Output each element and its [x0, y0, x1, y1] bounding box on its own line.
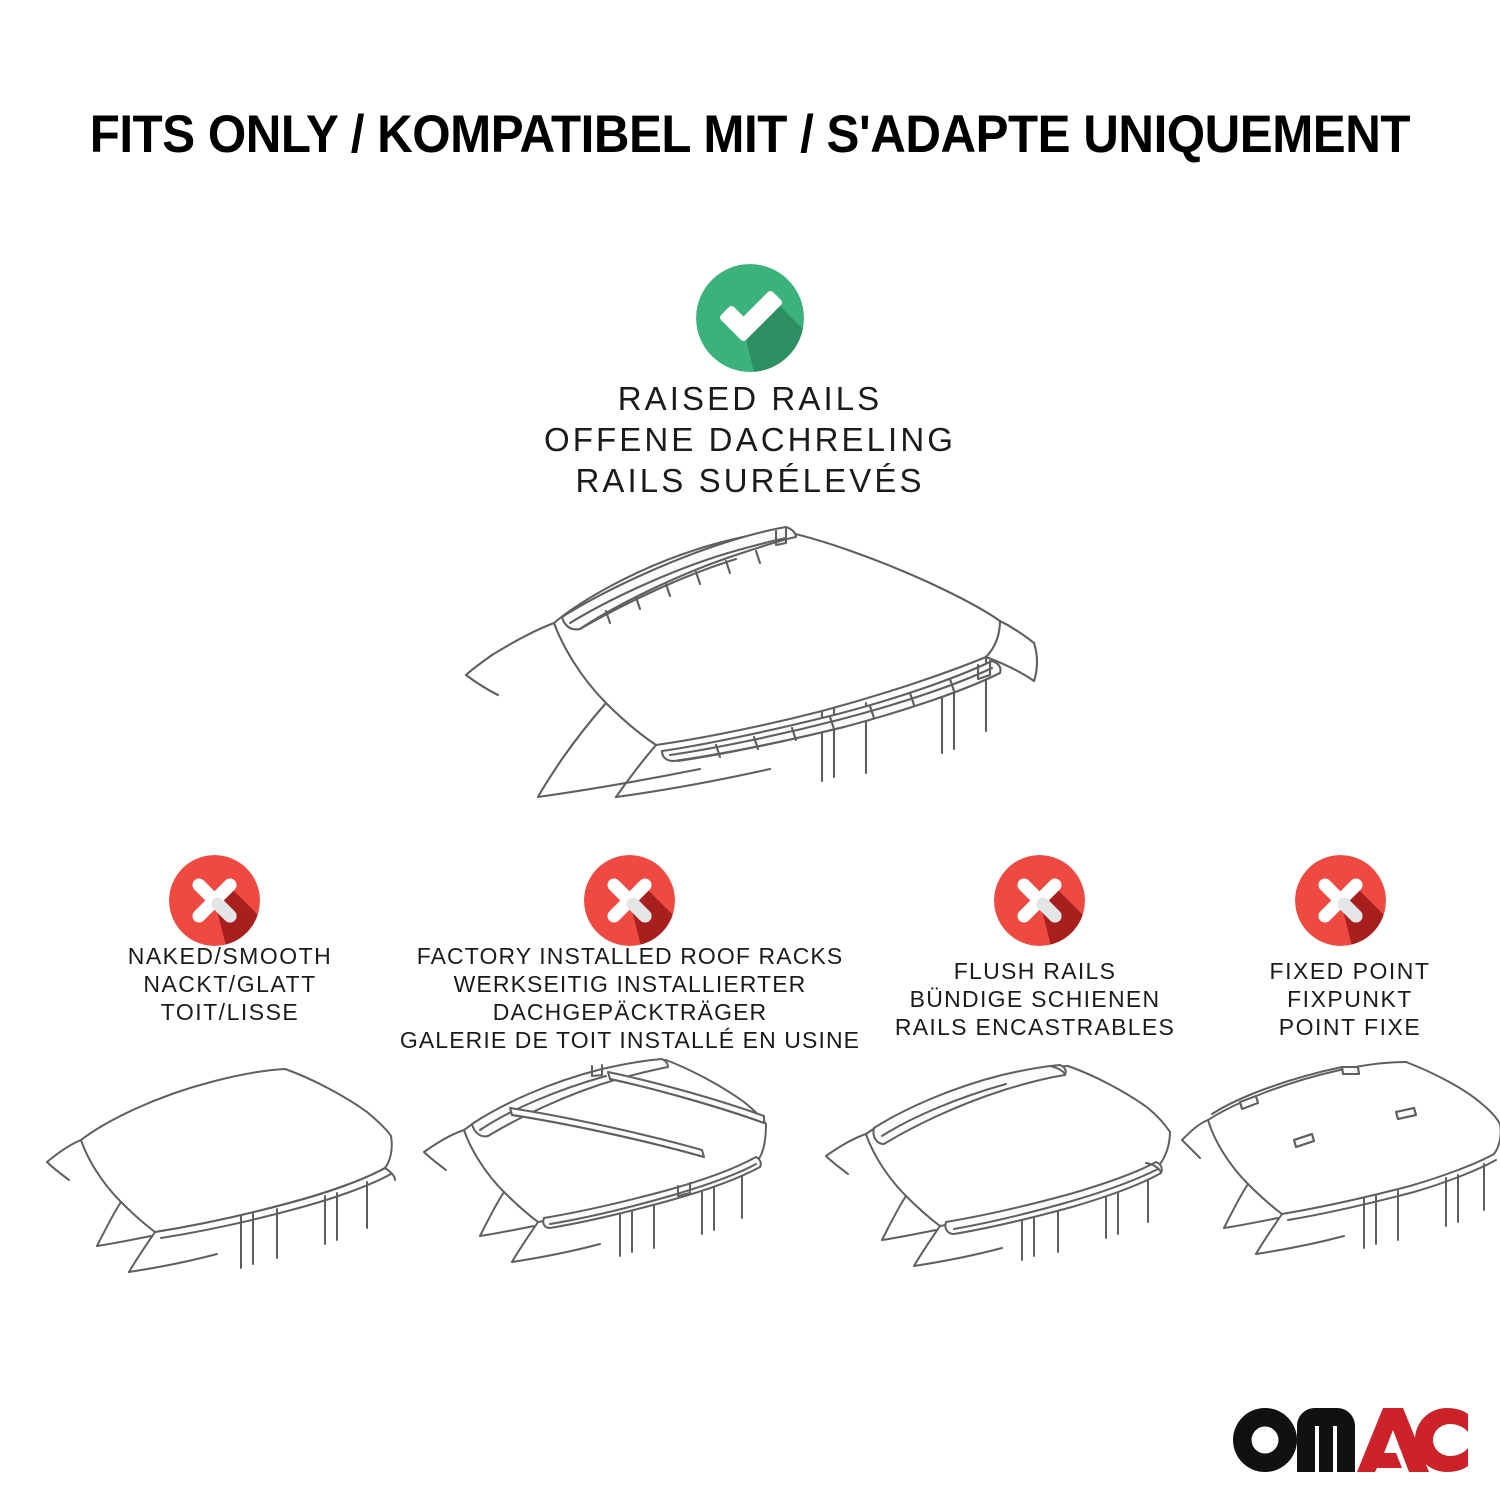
- car-roof-flush-rails-illustration: [822, 1062, 1197, 1297]
- compatible-label-group: RAISED RAILS OFFENE DACHRELING RAILS SUR…: [330, 378, 1170, 501]
- omac-logo: [1233, 1408, 1468, 1472]
- cross-circle-icon: [994, 855, 1085, 946]
- incompatible-4-label-de: FIXPUNKT: [1215, 985, 1485, 1013]
- page-title: FITS ONLY / KOMPATIBEL MIT / S'ADAPTE UN…: [0, 104, 1500, 166]
- cross-circle-icon: [1295, 855, 1386, 946]
- incompatible-label-group-2: FACTORY INSTALLED ROOF RACKS WERKSEITIG …: [395, 942, 865, 1054]
- page-title-text: FITS ONLY / KOMPATIBEL MIT / S'ADAPTE UN…: [90, 104, 1410, 166]
- incompatible-3-label-fr: RAILS ENCASTRABLES: [845, 1013, 1225, 1041]
- incompatible-3-label-en: FLUSH RAILS: [845, 957, 1225, 985]
- car-roof-raised-rails-illustration: [430, 505, 1090, 805]
- incompatible-1-label-fr: TOIT/LISSE: [20, 998, 440, 1026]
- compatible-label-de: OFFENE DACHRELING: [330, 419, 1170, 460]
- incompatible-4-label-fr: POINT FIXE: [1215, 1013, 1485, 1041]
- incompatible-label-group-1: NAKED/SMOOTH NACKT/GLATT TOIT/LISSE: [20, 942, 440, 1026]
- incompatible-2-label-de-1: WERKSEITIG INSTALLIERTER: [395, 970, 865, 998]
- incompatible-2-label-en: FACTORY INSTALLED ROOF RACKS: [395, 942, 865, 970]
- car-roof-factory-racks-illustration: [402, 1058, 777, 1298]
- incompatible-label-group-3: FLUSH RAILS BÜNDIGE SCHIENEN RAILS ENCAS…: [845, 957, 1225, 1041]
- incompatible-2-label-de-2: DACHGEPÄCKTRÄGER: [395, 998, 865, 1026]
- incompatible-3-label-de: BÜNDIGE SCHIENEN: [845, 985, 1225, 1013]
- compatible-label-fr: RAILS SURÉLEVÉS: [330, 460, 1170, 501]
- cross-circle-icon: [584, 855, 675, 946]
- check-circle-icon: [696, 264, 804, 372]
- incompatible-label-group-4: FIXED POINT FIXPUNKT POINT FIXE: [1215, 957, 1485, 1041]
- car-roof-fixed-point-illustration: [1182, 1062, 1500, 1297]
- car-roof-naked-smooth-illustration: [45, 1062, 395, 1297]
- incompatible-4-label-en: FIXED POINT: [1215, 957, 1485, 985]
- cross-circle-icon: [169, 855, 260, 946]
- incompatible-1-label-de: NACKT/GLATT: [20, 970, 440, 998]
- incompatible-1-label-en: NAKED/SMOOTH: [20, 942, 440, 970]
- compatible-label-en: RAISED RAILS: [330, 378, 1170, 419]
- incompatible-2-label-fr: GALERIE DE TOIT INSTALLÉ EN USINE: [395, 1026, 865, 1054]
